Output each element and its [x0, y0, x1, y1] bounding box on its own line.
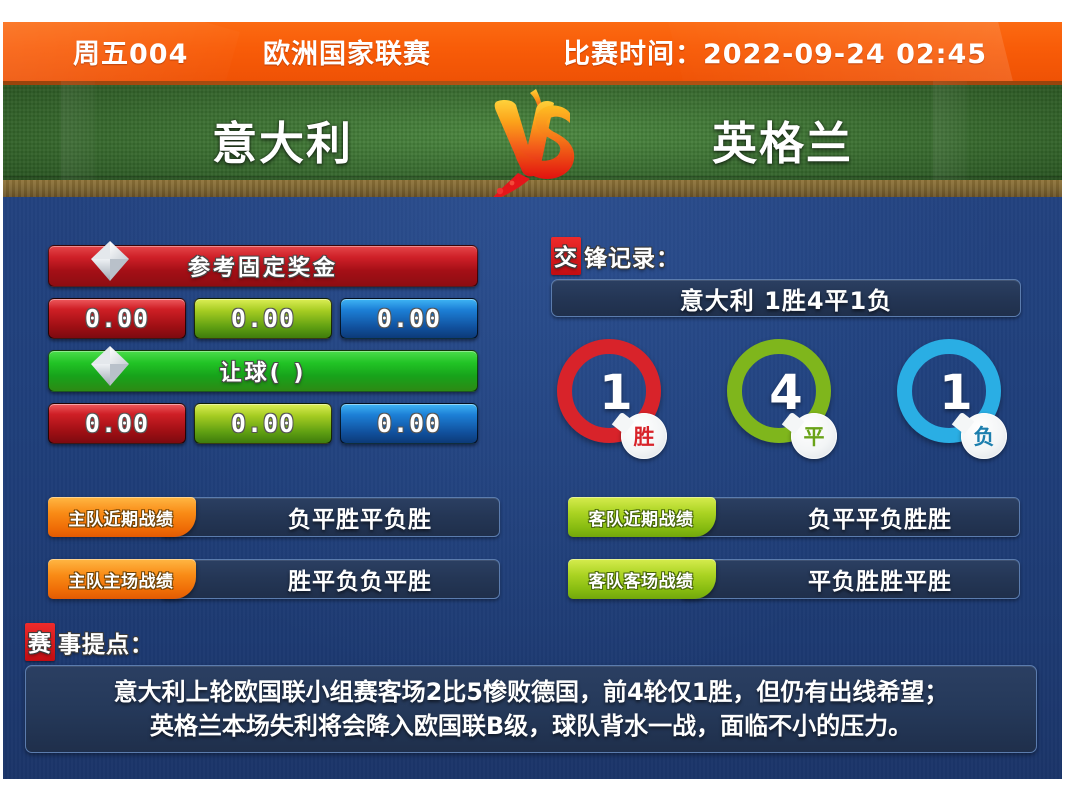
- vs-emblem: [478, 81, 588, 197]
- ring-label-badge: 胜: [621, 413, 667, 459]
- match-tips-section: 赛 事提点： 意大利上轮欧国联小组赛客场2比5惨败德国，前4轮仅1胜，但仍有出线…: [25, 627, 1037, 753]
- match-issue-number: 周五004: [73, 32, 263, 71]
- home-form-column: 主队近期战绩 负平胜平负胜 主队主场战绩 胜平负负平胜: [48, 497, 500, 621]
- odds-button-draw[interactable]: 0.00: [194, 298, 332, 339]
- diamond-icon: [87, 238, 133, 284]
- ring-label: 平: [804, 421, 825, 451]
- ring-label-badge: 负: [961, 413, 1007, 459]
- head-to-head-title-text: 锋记录：: [584, 239, 680, 273]
- away-recent-form-row: 客队近期战绩 负平平负胜胜: [568, 497, 1020, 537]
- handicap-title: 让球( ): [220, 355, 307, 387]
- handicap-button-away-win[interactable]: 0.00: [340, 403, 478, 444]
- ring-label: 负: [974, 421, 995, 451]
- away-away-form-value: 平负胜胜平胜: [680, 559, 1020, 599]
- ring-draw: 4 平: [727, 339, 845, 457]
- head-to-head-summary: 意大利 1胜4平1负: [551, 279, 1021, 317]
- home-home-form-label: 主队主场战绩: [48, 559, 196, 599]
- match-tips-badge: 赛: [25, 623, 55, 661]
- match-tips-line: 意大利上轮欧国联小组赛客场2比5惨败德国，前4轮仅1胜，但仍有出线希望；: [114, 675, 949, 709]
- diamond-icon: [87, 343, 133, 389]
- home-recent-form-label: 主队近期战绩: [48, 497, 196, 537]
- head-to-head-badge: 交: [551, 237, 581, 275]
- match-preview-card: 周五004 欧洲国家联赛 比赛时间：2022-09-24 02:45 意大利: [0, 0, 1065, 799]
- match-tips-line: 英格兰本场失利将会降入欧国联B级，球队背水一战，面临不小的压力。: [150, 709, 912, 743]
- ring-win: 1 胜: [557, 339, 675, 457]
- fixed-odds-title: 参考固定奖金: [188, 250, 338, 282]
- away-team-name: 英格兰: [613, 107, 953, 172]
- head-to-head-title: 交 锋记录：: [551, 241, 1021, 271]
- home-team-name: 意大利: [113, 107, 453, 172]
- main-panel: 参考固定奖金 0.00 0.00 0.00 让球( ): [3, 197, 1062, 779]
- away-away-form-row: 客队客场战绩 平负胜胜平胜: [568, 559, 1020, 599]
- head-to-head-section: 交 锋记录： 意大利 1胜4平1负 1 胜 4: [551, 241, 1021, 457]
- ring-label: 胜: [634, 421, 655, 451]
- fixed-odds-header: 参考固定奖金: [48, 245, 478, 287]
- home-home-form-value: 胜平负负平胜: [160, 559, 500, 599]
- match-tips-title-text: 事提点：: [58, 625, 154, 659]
- ring-loss: 1 负: [897, 339, 1015, 457]
- away-form-column: 客队近期战绩 负平平负胜胜 客队客场战绩 平负胜胜平胜: [568, 497, 1020, 621]
- handicap-odds-row: 0.00 0.00 0.00: [48, 403, 478, 444]
- home-recent-form-row: 主队近期战绩 负平胜平负胜: [48, 497, 500, 537]
- away-recent-form-label: 客队近期战绩: [568, 497, 716, 537]
- fixed-odds-row: 0.00 0.00 0.00: [48, 298, 478, 339]
- odds-panel: 参考固定奖金 0.00 0.00 0.00 让球( ): [48, 245, 478, 455]
- home-recent-form-value: 负平胜平负胜: [160, 497, 500, 537]
- match-tips-title: 赛 事提点：: [25, 627, 1037, 657]
- odds-button-home-win[interactable]: 0.00: [48, 298, 186, 339]
- away-away-form-label: 客队客场战绩: [568, 559, 716, 599]
- handicap-button-home-win[interactable]: 0.00: [48, 403, 186, 444]
- match-tips-box: 意大利上轮欧国联小组赛客场2比5惨败德国，前4轮仅1胜，但仍有出线希望； 英格兰…: [25, 665, 1037, 753]
- home-home-form-row: 主队主场战绩 胜平负负平胜: [48, 559, 500, 599]
- league-name: 欧洲国家联赛: [263, 32, 563, 71]
- top-margin: [0, 0, 1065, 22]
- header-content: 周五004 欧洲国家联赛 比赛时间：2022-09-24 02:45: [3, 22, 1062, 81]
- match-time: 比赛时间：2022-09-24 02:45: [563, 32, 987, 71]
- ring-label-badge: 平: [791, 413, 837, 459]
- header-bar: 周五004 欧洲国家联赛 比赛时间：2022-09-24 02:45: [3, 22, 1062, 81]
- odds-button-away-win[interactable]: 0.00: [340, 298, 478, 339]
- away-recent-form-value: 负平平负胜胜: [680, 497, 1020, 537]
- handicap-header: 让球( ): [48, 350, 478, 392]
- handicap-button-draw[interactable]: 0.00: [194, 403, 332, 444]
- matchup-banner: 意大利: [3, 81, 1062, 197]
- bottom-margin: [0, 779, 1065, 799]
- head-to-head-rings: 1 胜 4 平 1: [551, 339, 1021, 457]
